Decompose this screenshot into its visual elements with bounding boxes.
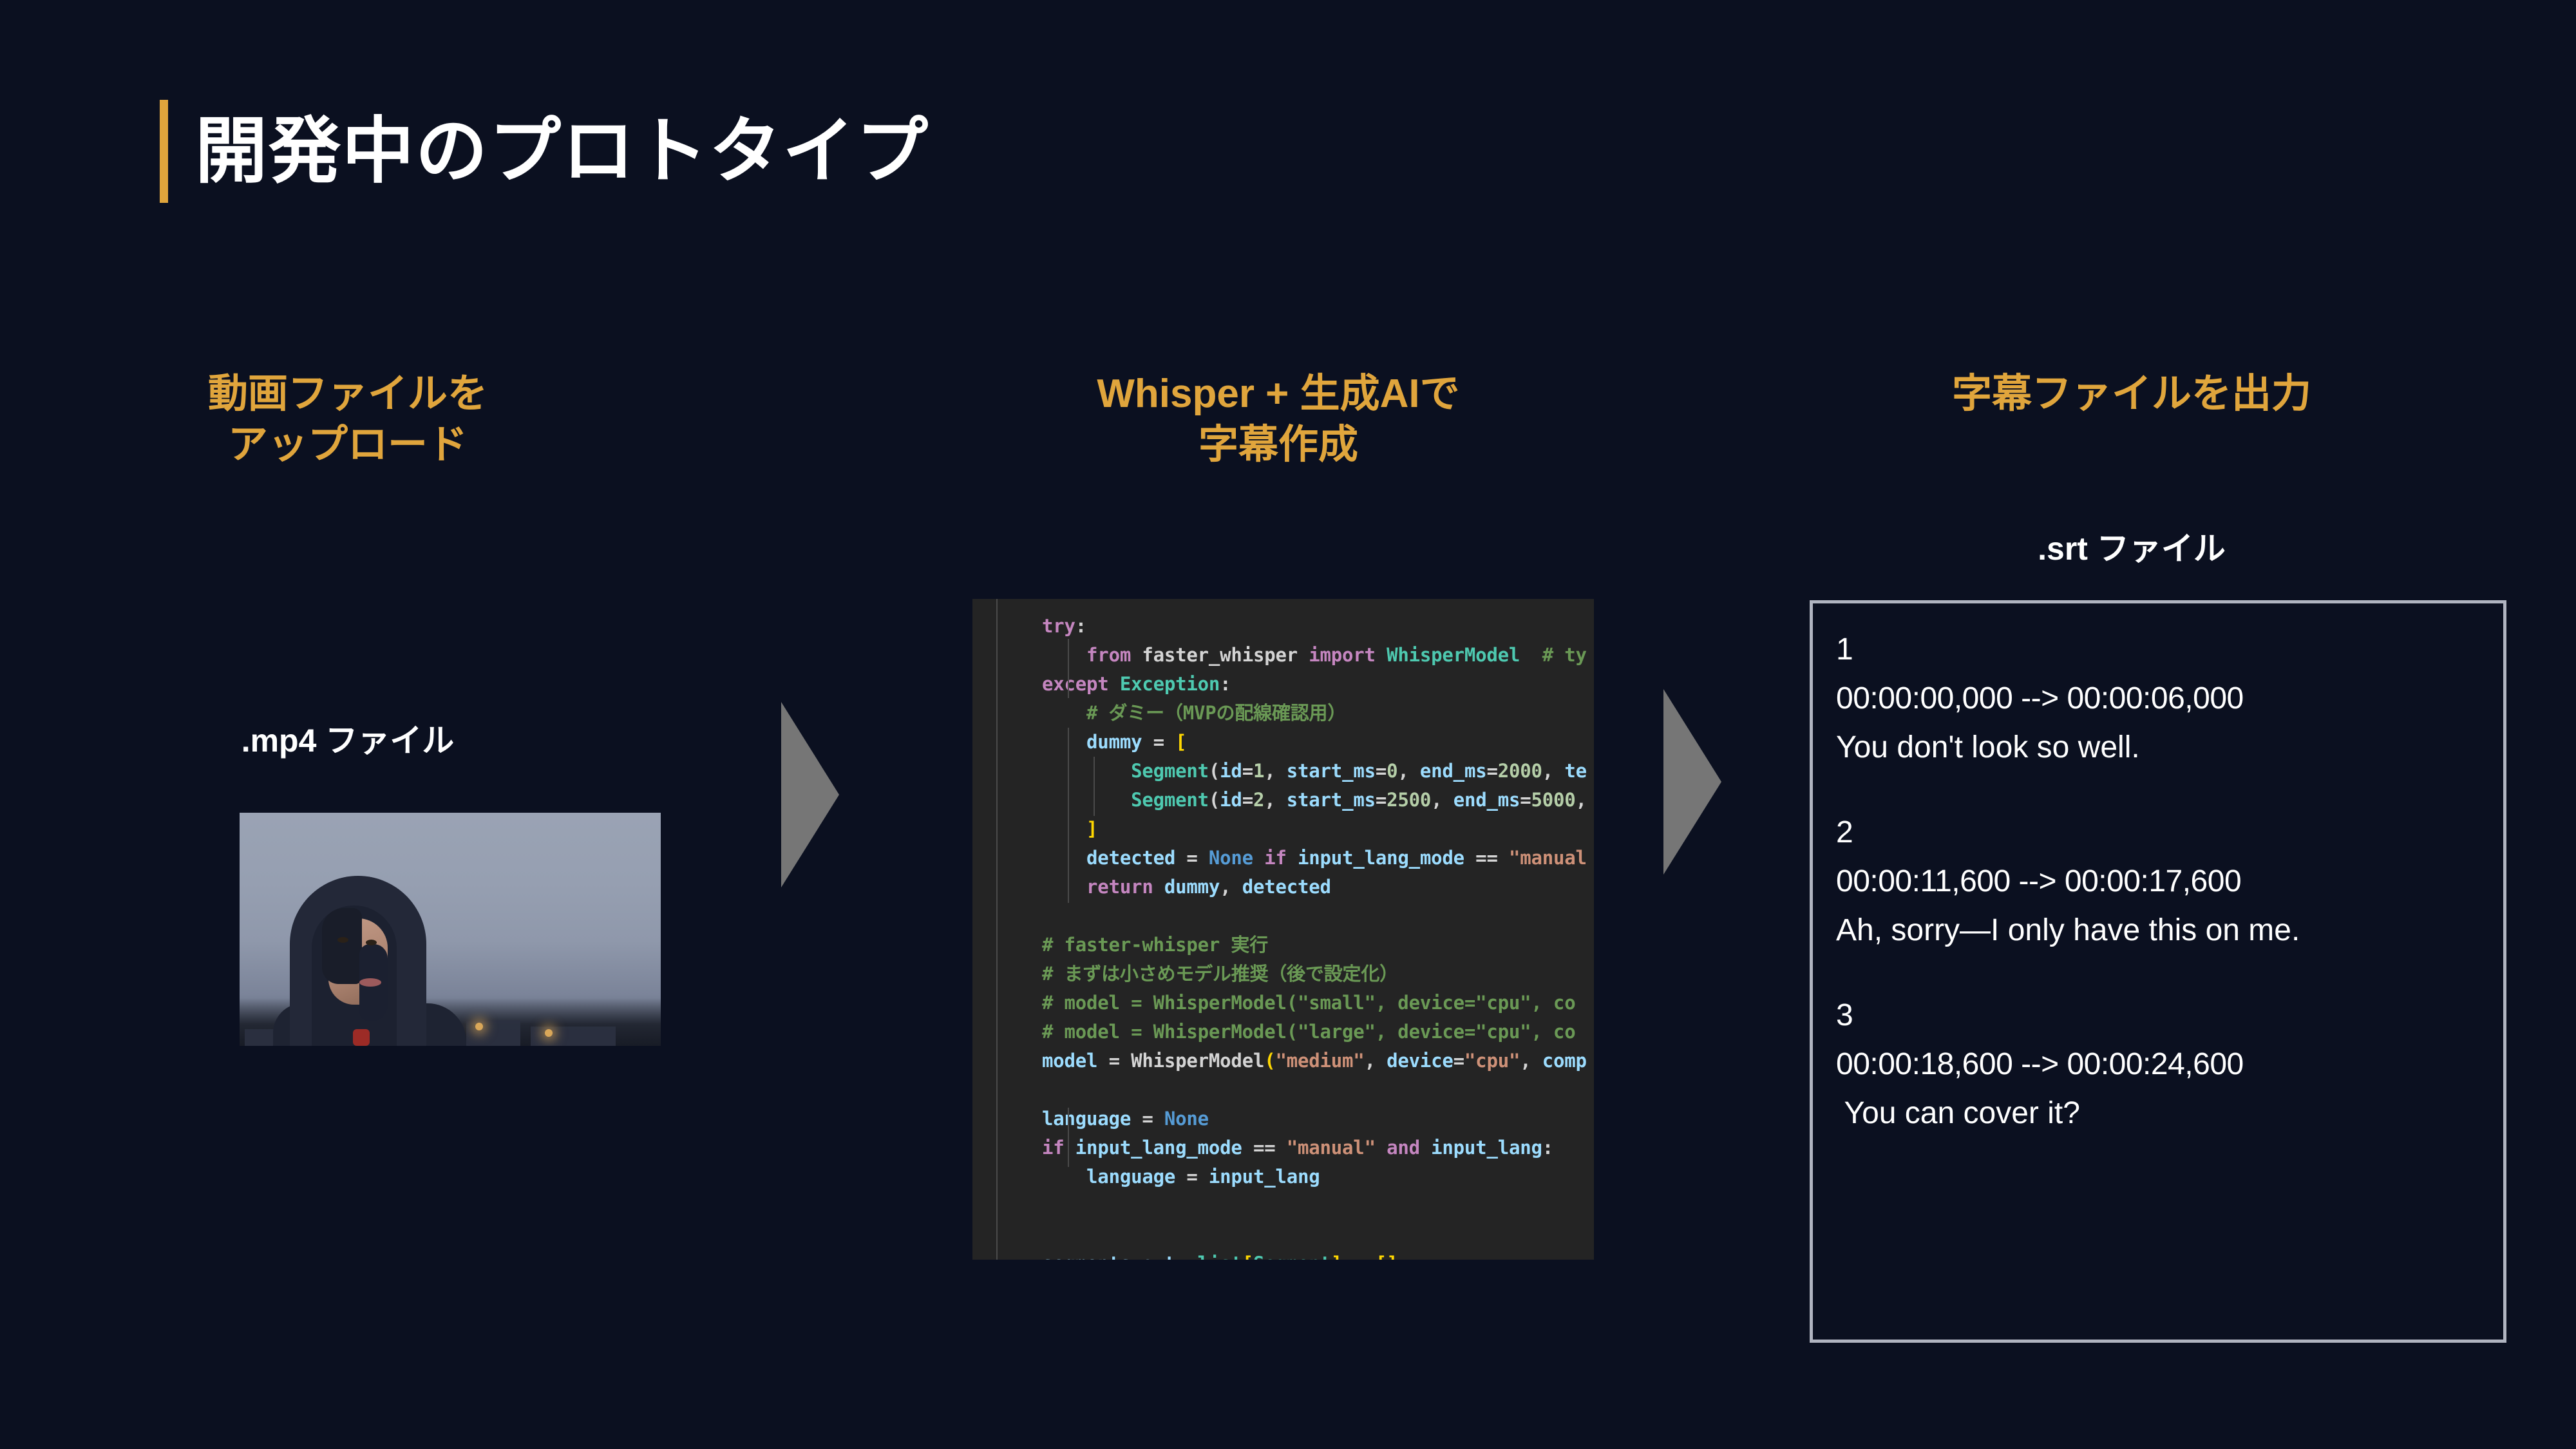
- code-indent-guide: [1068, 728, 1069, 903]
- code-token: try: [1042, 615, 1075, 637]
- code-text: try: from faster_whisper import WhisperM…: [1042, 612, 1587, 1260]
- code-token: input_lang_mode: [1298, 847, 1464, 869]
- code-token: language: [1086, 1166, 1175, 1188]
- code-token: comp: [1542, 1050, 1587, 1072]
- code-token: [1376, 644, 1387, 666]
- code-indent-guide: [1068, 1108, 1069, 1167]
- srt-entry-index: 1: [1836, 625, 2490, 674]
- code-token: [1042, 1166, 1086, 1188]
- code-token: ==: [1464, 847, 1509, 869]
- code-token: WhisperModel: [1131, 1050, 1264, 1072]
- code-token: list: [1198, 1253, 1242, 1260]
- thumbnail-light: [475, 1023, 483, 1030]
- code-token: if: [1042, 1137, 1065, 1159]
- code-token: dummy: [1164, 876, 1220, 898]
- srt-entry-text: You can cover it?: [1836, 1089, 2490, 1138]
- code-token: [1109, 673, 1120, 695]
- code-token: 1: [1253, 760, 1264, 782]
- code-token: model: [1042, 1050, 1097, 1072]
- code-token: 2: [1253, 789, 1264, 811]
- code-token: if: [1264, 847, 1287, 869]
- code-token: :: [1542, 1137, 1553, 1159]
- code-token: 2500: [1387, 789, 1431, 811]
- code-token: Segment: [1253, 1253, 1331, 1260]
- code-token: =: [1486, 760, 1497, 782]
- code-token: detected: [1086, 847, 1175, 869]
- thumbnail-eye: [337, 937, 348, 943]
- code-token: ,: [1264, 760, 1287, 782]
- srt-entry-index: 3: [1836, 991, 2490, 1040]
- code-token: ,: [1520, 1050, 1542, 1072]
- srt-entry-text: You don't look so well.: [1836, 723, 2490, 772]
- code-token: # model = WhisperModel("small", device="…: [1042, 992, 1575, 1014]
- code-token: (: [1264, 1050, 1275, 1072]
- code-token: "manual": [1287, 1137, 1376, 1159]
- code-token: id: [1220, 760, 1242, 782]
- code-token: 2000: [1498, 760, 1542, 782]
- thumbnail-eye: [366, 940, 377, 945]
- code-token: te: [1564, 760, 1587, 782]
- code-token: ,: [1365, 1050, 1387, 1072]
- flow-arrow-right-icon: [781, 702, 839, 887]
- code-token: device: [1387, 1050, 1454, 1072]
- code-token: except: [1042, 673, 1109, 695]
- code-token: [1420, 1137, 1431, 1159]
- code-token: and: [1387, 1137, 1420, 1159]
- thumbnail-hair: [322, 908, 362, 984]
- page-title: 開発中のプロトタイプ: [195, 115, 929, 187]
- column-heading-output: 字幕ファイルを出力: [1842, 368, 2421, 419]
- srt-entry-timecode: 00:00:11,600 --> 00:00:17,600: [1836, 857, 2490, 906]
- code-token: language: [1042, 1108, 1131, 1130]
- code-token: [1153, 876, 1164, 898]
- code-token: input_lang_mode: [1075, 1137, 1242, 1159]
- code-token: [1042, 644, 1086, 666]
- thumbnail-building: [466, 1020, 520, 1046]
- title-accent-bar: [160, 100, 168, 203]
- code-token: segments_out: [1042, 1253, 1175, 1260]
- code-token: ,: [1542, 760, 1565, 782]
- code-token: =: [1175, 847, 1209, 869]
- code-token: id: [1220, 789, 1242, 811]
- code-token: :: [1175, 1253, 1198, 1260]
- srt-entry-timecode: 00:00:18,600 --> 00:00:24,600: [1836, 1040, 2490, 1089]
- code-indent-guide: [1094, 757, 1095, 816]
- code-token: []: [1376, 1253, 1398, 1260]
- code-token: import: [1309, 644, 1376, 666]
- code-token: from: [1086, 644, 1131, 666]
- thumbnail-jacket-accent: [353, 1029, 370, 1046]
- code-token: =: [1097, 1050, 1131, 1072]
- code-token: =: [1376, 789, 1387, 811]
- srt-output-box: 100:00:00,000 --> 00:00:06,000You don't …: [1810, 600, 2506, 1343]
- code-token: return: [1086, 876, 1153, 898]
- code-token: start_ms: [1287, 760, 1376, 782]
- code-token: input_lang: [1431, 1137, 1542, 1159]
- code-token: Exception: [1120, 673, 1220, 695]
- code-token: None: [1164, 1108, 1209, 1130]
- code-token: ,: [1264, 789, 1287, 811]
- code-token: "manual: [1509, 847, 1587, 869]
- srt-entry: 100:00:00,000 --> 00:00:06,000You don't …: [1836, 625, 2490, 772]
- code-token: detected: [1242, 876, 1331, 898]
- code-token: ]: [1331, 1253, 1342, 1260]
- code-token: dummy: [1086, 731, 1142, 753]
- code-token: input_lang: [1209, 1166, 1320, 1188]
- code-token: ==: [1242, 1137, 1287, 1159]
- srt-entry: 300:00:18,600 --> 00:00:24,600 You can c…: [1836, 991, 2490, 1138]
- code-token: (: [1209, 789, 1220, 811]
- code-token: =: [1242, 760, 1253, 782]
- code-token: [1253, 847, 1264, 869]
- srt-entry-list: 100:00:00,000 --> 00:00:06,000You don't …: [1836, 625, 2490, 1138]
- code-token: :: [1075, 615, 1086, 637]
- thumbnail-building: [531, 1027, 616, 1046]
- code-token: WhisperModel: [1387, 644, 1520, 666]
- code-snippet-panel: try: from faster_whisper import WhisperM…: [972, 599, 1594, 1260]
- mp4-file-label: .mp4 ファイル: [142, 715, 554, 761]
- code-token: [1287, 847, 1298, 869]
- code-token: =: [1131, 1108, 1164, 1130]
- srt-entry-text: Ah, sorry—I only have this on me.: [1836, 906, 2490, 955]
- code-token: [1042, 818, 1086, 840]
- code-token: =: [1520, 789, 1531, 811]
- code-indent-guide: [1068, 639, 1069, 698]
- code-token: =: [1454, 1050, 1464, 1072]
- srt-entry-index: 2: [1836, 808, 2490, 857]
- code-token: "cpu": [1464, 1050, 1520, 1072]
- code-token: [1042, 876, 1086, 898]
- code-token: "medium": [1275, 1050, 1364, 1072]
- column-heading-transcribe: Whisper + 生成AIで 字幕作成: [947, 368, 1610, 471]
- code-token: [1042, 731, 1086, 753]
- code-token: start_ms: [1287, 789, 1376, 811]
- code-token: ]: [1086, 818, 1097, 840]
- code-token: =: [1342, 1253, 1376, 1260]
- srt-entry: 200:00:11,600 --> 00:00:17,600Ah, sorry—…: [1836, 808, 2490, 955]
- code-token: =: [1242, 789, 1253, 811]
- flow-arrow-right-icon: [1663, 689, 1721, 875]
- code-token: Segment: [1131, 760, 1209, 782]
- code-token: [1042, 760, 1131, 782]
- code-token: # ダミー（MVPの配線確認用）: [1042, 702, 1346, 724]
- code-token: (: [1209, 760, 1220, 782]
- code-token: [: [1175, 731, 1186, 753]
- code-token: [1042, 789, 1131, 811]
- code-token: =: [1142, 731, 1175, 753]
- code-token: # faster-whisper 実行: [1042, 934, 1268, 956]
- thumbnail-light: [545, 1029, 553, 1037]
- code-token: 5000: [1531, 789, 1576, 811]
- code-gutter-line: [996, 599, 998, 1260]
- srt-file-label: .srt ファイル: [1842, 523, 2421, 569]
- code-token: ,: [1576, 789, 1587, 811]
- code-token: faster_whisper: [1131, 644, 1309, 666]
- thumbnail-lips: [359, 978, 381, 987]
- code-token: =: [1376, 760, 1387, 782]
- code-token: [1065, 1137, 1075, 1159]
- code-token: end_ms: [1420, 760, 1487, 782]
- code-token: 0: [1387, 760, 1397, 782]
- code-token: ,: [1397, 760, 1420, 782]
- code-token: [: [1242, 1253, 1253, 1260]
- code-token: [1042, 847, 1086, 869]
- srt-entry-timecode: 00:00:00,000 --> 00:00:06,000: [1836, 674, 2490, 723]
- code-token: Segment: [1131, 789, 1209, 811]
- code-token: # ty: [1520, 644, 1587, 666]
- code-token: [1376, 1137, 1387, 1159]
- code-token: :: [1220, 673, 1231, 695]
- video-thumbnail: [240, 813, 661, 1046]
- code-token: # model = WhisperModel("large", device="…: [1042, 1021, 1575, 1043]
- code-token: ,: [1431, 789, 1454, 811]
- code-token: None: [1209, 847, 1253, 869]
- column-heading-upload: 動画ファイルを アップロード: [142, 368, 554, 471]
- code-token: =: [1175, 1166, 1209, 1188]
- code-token: end_ms: [1454, 789, 1520, 811]
- code-token: ,: [1220, 876, 1242, 898]
- page-title-block: 開発中のプロトタイプ: [160, 100, 929, 203]
- code-token: # まずは小さめモデル推奨（後で設定化）: [1042, 963, 1398, 985]
